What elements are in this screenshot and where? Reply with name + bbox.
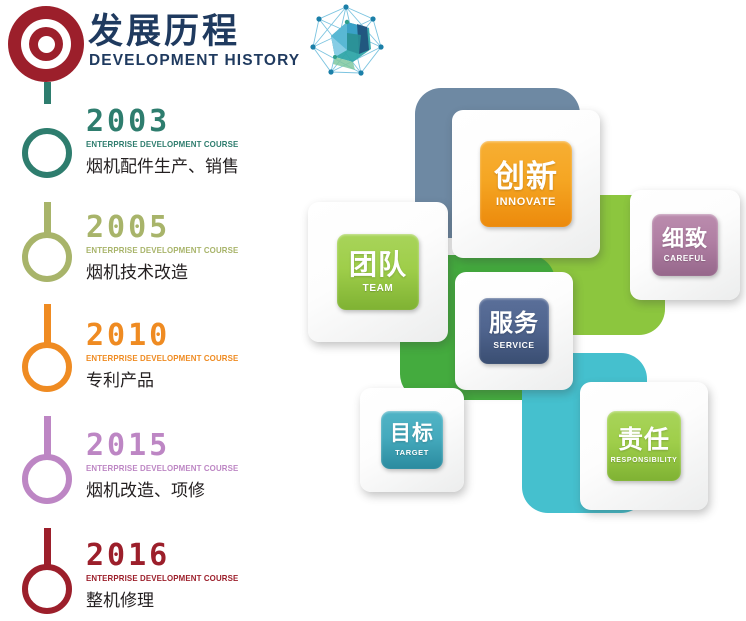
- infographic-page: 发展历程 DEVELOPMENT HISTORY 2003 ENTERPRISE…: [0, 0, 746, 621]
- card-tile: 细致 CAREFUL: [652, 214, 718, 276]
- card-label-cn: 服务: [489, 312, 539, 336]
- card-tile: 服务 SERVICE: [479, 298, 549, 364]
- card-tile: 创新 INNOVATE: [480, 141, 572, 227]
- timeline-subtitle: ENTERPRISE DEVELOPMENT COURSE: [86, 138, 288, 150]
- card-label-en: SERVICE: [493, 340, 534, 350]
- timeline-description: 专利产品: [86, 369, 301, 393]
- timeline-node-2015[interactable]: [22, 454, 72, 504]
- timeline-entry-2005[interactable]: 2005 ENTERPRISE DEVELOPMENT COURSE 烟机技术改…: [86, 212, 301, 285]
- timeline-subtitle: ENTERPRISE DEVELOPMENT COURSE: [86, 462, 288, 474]
- timeline-description: 烟机技术改造: [86, 261, 301, 285]
- timeline-node-2005[interactable]: [22, 232, 72, 282]
- card-service[interactable]: 服务 SERVICE: [455, 272, 573, 390]
- card-careful[interactable]: 细致 CAREFUL: [630, 190, 740, 300]
- timeline-year: 2003: [86, 106, 301, 137]
- timeline-subtitle: ENTERPRISE DEVELOPMENT COURSE: [86, 244, 288, 256]
- card-label-en: TARGET: [395, 448, 429, 457]
- timeline-node-2010[interactable]: [22, 342, 72, 392]
- timeline-subtitle: ENTERPRISE DEVELOPMENT COURSE: [86, 572, 288, 584]
- card-tile: 目标 TARGET: [381, 411, 443, 469]
- timeline-entry-2003[interactable]: 2003 ENTERPRISE DEVELOPMENT COURSE 烟机配件生…: [86, 106, 301, 179]
- card-label-cn: 责任: [618, 428, 670, 453]
- timeline-description: 烟机改造、项修: [86, 479, 301, 503]
- card-tile: 责任 RESPONSIBILITY: [607, 411, 681, 481]
- card-label-en: TEAM: [363, 283, 394, 294]
- timeline-entry-2015[interactable]: 2015 ENTERPRISE DEVELOPMENT COURSE 烟机改造、…: [86, 430, 301, 503]
- timeline-year: 2005: [86, 212, 301, 243]
- target-bullseye-icon: [8, 6, 84, 82]
- card-label-cn: 创新: [494, 161, 558, 192]
- card-label-cn: 细致: [662, 228, 708, 250]
- timeline-year: 2010: [86, 320, 301, 351]
- timeline: 2003 ENTERPRISE DEVELOPMENT COURSE 烟机配件生…: [0, 82, 300, 621]
- timeline-node-2003[interactable]: [22, 128, 72, 178]
- card-label-cn: 团队: [349, 251, 407, 279]
- timeline-year: 2015: [86, 430, 301, 461]
- values-collage: 团队 TEAM 创新 INNOVATE 细致 CAREFUL 服务 SERVIC…: [300, 0, 746, 621]
- card-label-en: CAREFUL: [664, 254, 706, 263]
- card-label-en: INNOVATE: [496, 196, 556, 208]
- card-innovate[interactable]: 创新 INNOVATE: [452, 110, 600, 258]
- timeline-entry-2010[interactable]: 2010 ENTERPRISE DEVELOPMENT COURSE 专利产品: [86, 320, 301, 393]
- card-team[interactable]: 团队 TEAM: [308, 202, 448, 342]
- card-responsibility[interactable]: 责任 RESPONSIBILITY: [580, 382, 708, 510]
- timeline-subtitle: ENTERPRISE DEVELOPMENT COURSE: [86, 352, 288, 364]
- timeline-entry-2016[interactable]: 2016 ENTERPRISE DEVELOPMENT COURSE 整机修理: [86, 540, 301, 613]
- timeline-node-2016[interactable]: [22, 564, 72, 614]
- card-label-en: RESPONSIBILITY: [611, 457, 678, 464]
- card-tile: 团队 TEAM: [337, 234, 419, 310]
- timeline-description: 烟机配件生产、销售: [86, 155, 301, 179]
- page-header: 发展历程 DEVELOPMENT HISTORY: [0, 0, 300, 90]
- page-title-cn: 发展历程: [88, 13, 240, 51]
- timeline-year: 2016: [86, 540, 301, 571]
- card-target[interactable]: 目标 TARGET: [360, 388, 464, 492]
- card-label-cn: 目标: [390, 423, 434, 444]
- timeline-connector-0: [44, 82, 51, 104]
- timeline-description: 整机修理: [86, 589, 301, 613]
- page-title-en: DEVELOPMENT HISTORY: [89, 52, 300, 70]
